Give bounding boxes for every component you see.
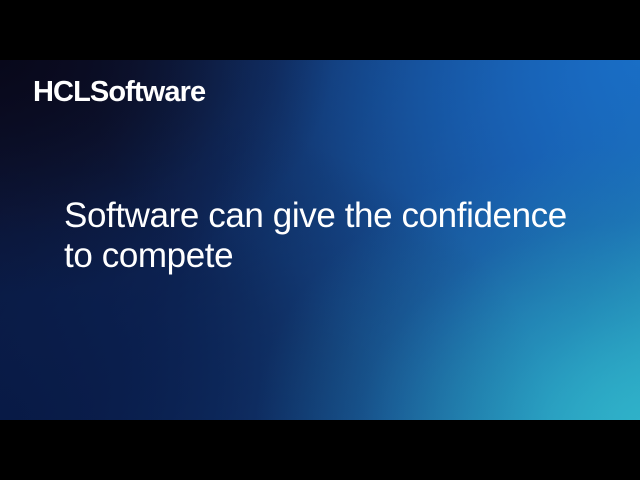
headline-line-2: to compete — [64, 236, 594, 276]
brand-logo-software: Software — [90, 78, 205, 107]
headline-line-1: Software can give the confidence — [64, 196, 594, 236]
letterbox-bar-top — [0, 0, 640, 60]
brand-logo-hcl: HCL — [33, 78, 90, 107]
brand-logo: HCLSoftware — [33, 78, 205, 107]
letterbox-bar-bottom — [0, 420, 640, 480]
headline: Software can give the confidence to comp… — [64, 196, 594, 276]
video-frame: HCLSoftware Software can give the confid… — [0, 0, 640, 480]
